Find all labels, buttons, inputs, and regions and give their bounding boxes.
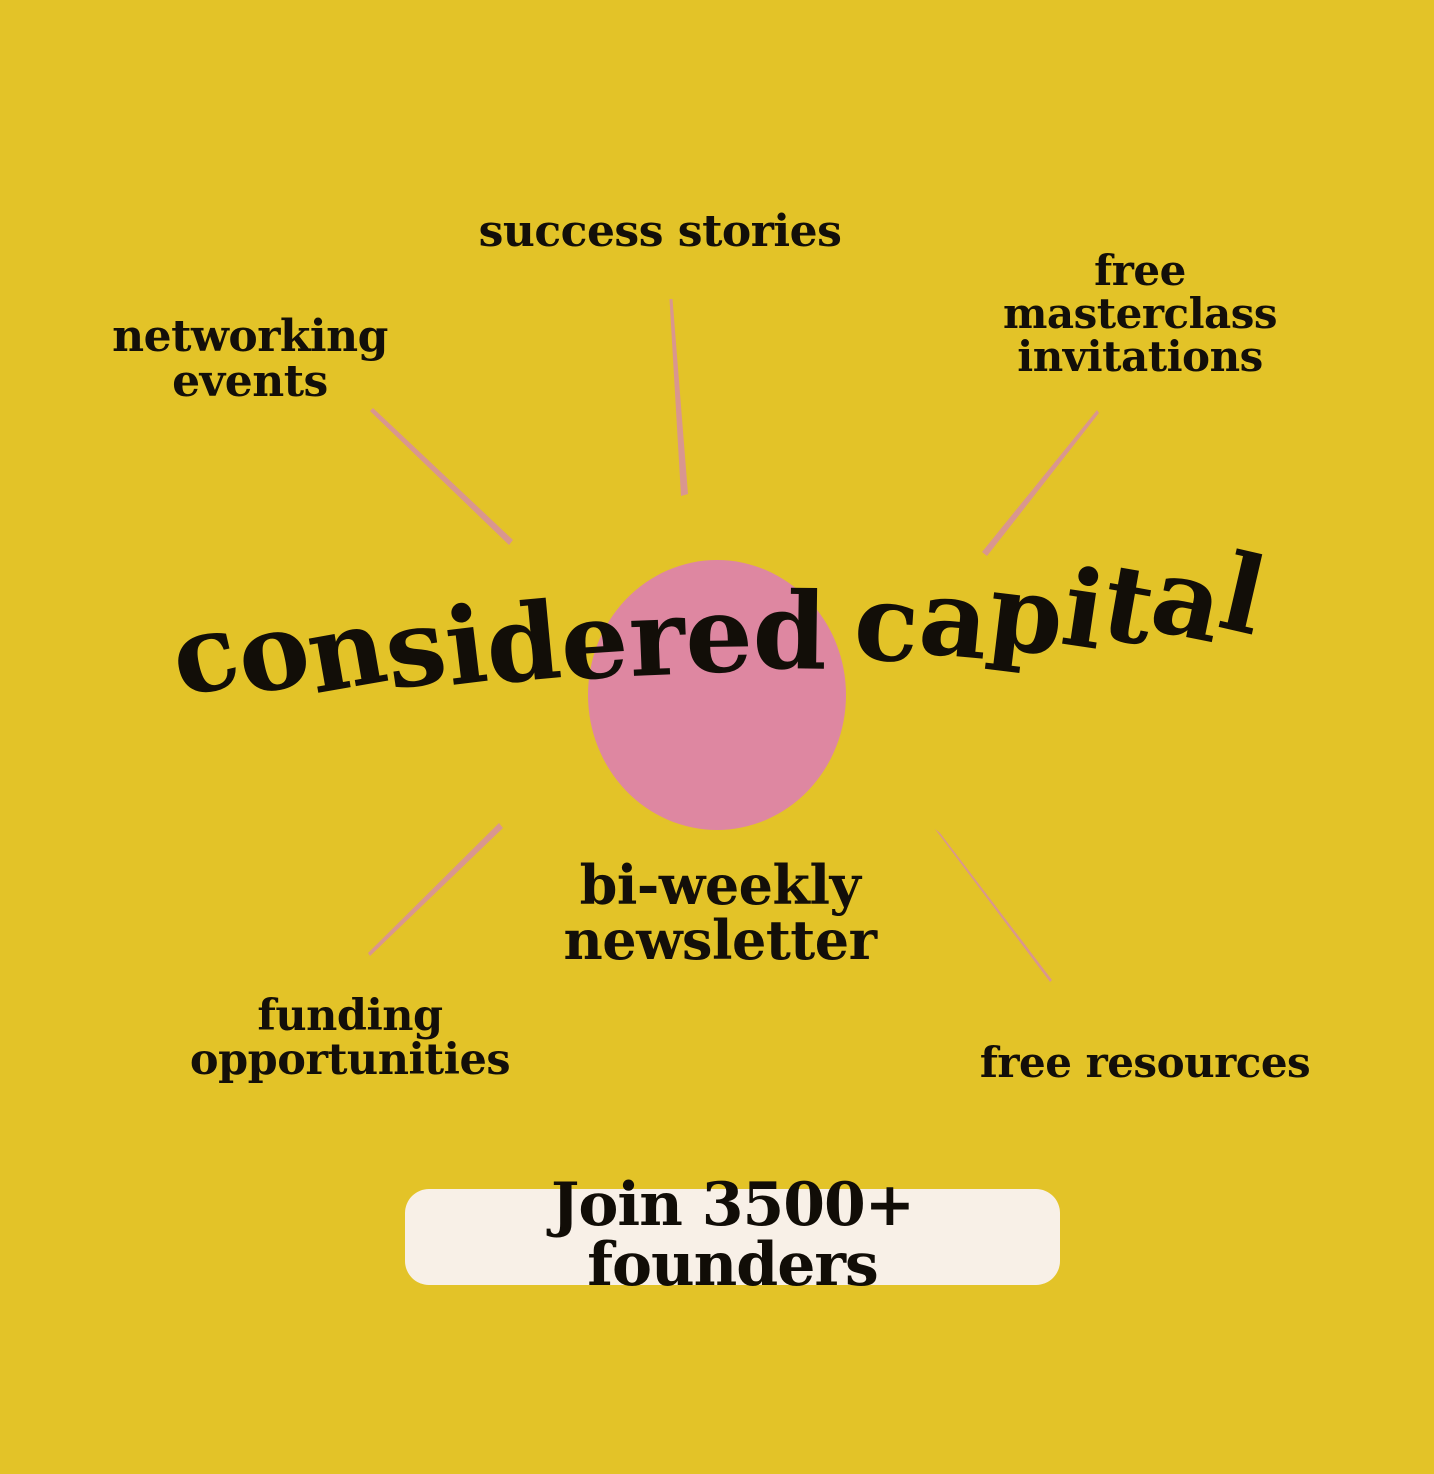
wordmark-char: s	[378, 592, 452, 705]
benefit-line: newsletter	[480, 913, 960, 968]
benefit-line: funding	[140, 995, 560, 1039]
wordmark-char: o	[227, 593, 316, 711]
wordmark-char: c	[161, 596, 247, 714]
wordmark-char: p	[983, 557, 1068, 671]
benefit-line: opportunities	[140, 1039, 560, 1083]
benefit-line: free resources	[930, 1042, 1360, 1085]
ray-masterclass	[982, 410, 1099, 556]
wordmark-char: c	[851, 568, 921, 678]
benefit-line: events	[60, 360, 440, 405]
benefit-line: free	[975, 250, 1305, 293]
benefit-line: networking	[60, 315, 440, 360]
benefit-label-success-stories: success stories	[430, 210, 890, 255]
benefit-label-free-resources: free resources	[930, 1042, 1360, 1085]
wordmark-char: n	[300, 592, 393, 710]
benefit-line: masterclass	[975, 293, 1305, 336]
wordmark-char: i	[1056, 554, 1110, 665]
join-founders-button-label: Join 3500+ founders	[405, 1175, 1060, 1300]
benefit-label-networking-events: networkingevents	[60, 315, 440, 405]
benefit-line: invitations	[975, 336, 1305, 379]
wordmark-char: t	[1095, 548, 1161, 661]
promo-canvas: consideredcapital success stories networ…	[0, 0, 1434, 1474]
benefit-label-funding-opportunities: fundingopportunities	[140, 995, 560, 1083]
wordmark-char: i	[440, 591, 492, 701]
wordmark-char: a	[1144, 541, 1231, 658]
ray-success-stories	[670, 299, 689, 496]
brand-circle	[588, 560, 846, 830]
benefit-label-bi-weekly-newsletter: bi-weeklynewsletter	[480, 858, 960, 968]
ray-networking-events	[370, 408, 513, 545]
wordmark-char: d	[482, 587, 565, 699]
benefit-line: success stories	[430, 210, 890, 255]
benefit-label-free-masterclass-invitations: freemasterclassinvitations	[975, 250, 1305, 378]
join-founders-button[interactable]: Join 3500+ founders	[405, 1189, 1060, 1285]
wordmark-char: a	[915, 563, 992, 675]
benefit-line: bi-weekly	[480, 858, 960, 913]
wordmark-char: l	[1211, 538, 1273, 650]
